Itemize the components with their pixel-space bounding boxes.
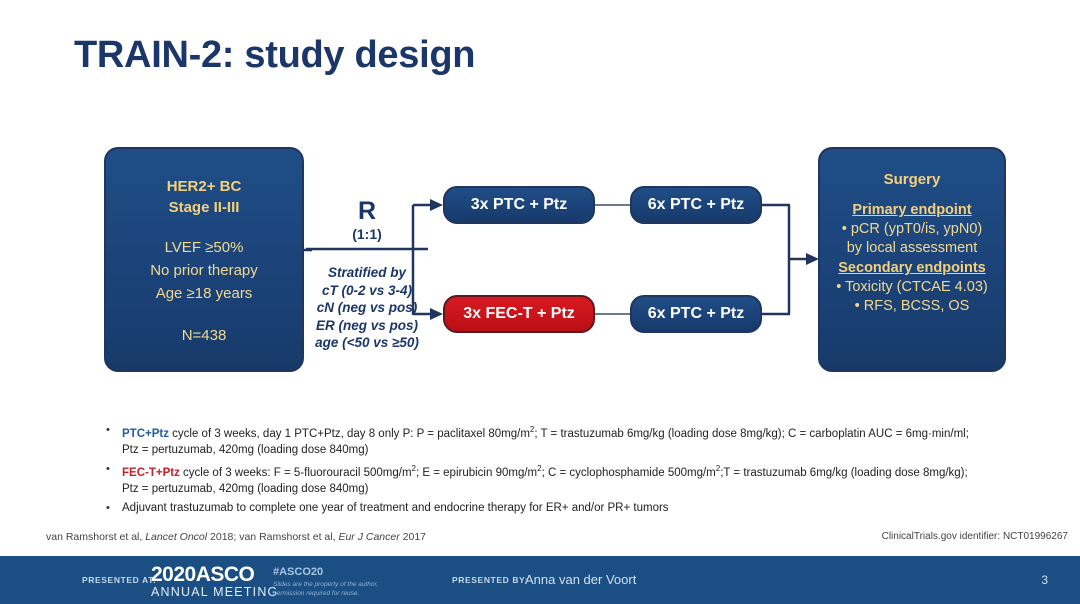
- citation-year-2: 2017: [400, 531, 426, 543]
- footnote-text-ptc: PTC+Ptz cycle of 3 weeks, day 1 PTC+Ptz,…: [122, 422, 980, 459]
- footnote-ptc-part-a: cycle of 3 weeks, day 1 PTC+Ptz, day 8 o…: [169, 428, 530, 440]
- footnote-text-fect: FEC-T+Ptz cycle of 3 weeks: F = 5-fluoro…: [122, 461, 980, 498]
- presented-at-label: PRESENTED AT:: [82, 575, 156, 585]
- population-criteria: LVEF ≥50% No prior therapy Age ≥18 years: [150, 236, 258, 305]
- surgery-heading: Surgery: [884, 171, 941, 188]
- stratification-factor-cn: cN (neg vs pos): [306, 299, 428, 317]
- footnotes-list: • PTC+Ptz cycle of 3 weeks, day 1 PTC+Pt…: [100, 422, 980, 518]
- asco-logo: 2020ASCO ANNUAL MEETING: [151, 564, 278, 600]
- footnote-text-adjuvant: Adjuvant trastuzumab to complete one yea…: [122, 500, 980, 517]
- surgery-endpoints-box: Surgery Primary endpoint • pCR (ypT0/is,…: [818, 147, 1006, 372]
- slide-number: 3: [1041, 573, 1048, 587]
- stratified-by-label: Stratified by: [306, 264, 428, 282]
- footnote-item-ptc: • PTC+Ptz cycle of 3 weeks, day 1 PTC+Pt…: [100, 422, 980, 459]
- citation-journal-1: Lancet Oncol: [145, 531, 207, 543]
- primary-endpoint-line1: • pCR (ypT0/is, ypN0): [842, 220, 982, 239]
- footnote-bullet: •: [100, 422, 122, 438]
- citation-year-1: 2018;: [207, 531, 239, 543]
- secondary-endpoints-heading: Secondary endpoints: [838, 258, 985, 278]
- conference-hashtag: #ASCO20: [273, 566, 378, 579]
- treatment-arm-b-continuation: 6x PTC + Ptz: [630, 295, 762, 333]
- asco-logo-title: 2020ASCO: [151, 564, 278, 585]
- stratification-factor-age: age (<50 vs ≥50): [306, 334, 428, 352]
- clinicaltrials-identifier: ClinicalTrials.gov identifier: NCT019962…: [882, 531, 1068, 542]
- footnote-fect-part-b: ; E = epirubicin 90mg/m: [416, 467, 537, 479]
- footnote-key-fect: FEC-T+Ptz: [122, 467, 180, 479]
- randomization-label: R (1:1): [312, 198, 422, 244]
- stratification-factor-er: ER (neg vs pos): [306, 317, 428, 335]
- primary-endpoint-line2: by local assessment: [847, 239, 978, 258]
- footnote-bullet: •: [100, 461, 122, 477]
- treatment-arm-b-induction: 3x FEC-T + Ptz: [443, 295, 595, 333]
- stratification-factor-ct: cT (0-2 vs 3-4): [306, 282, 428, 300]
- presenter-name: Anna van der Voort: [525, 572, 636, 587]
- disclaimer-line-2: permission required for reuse.: [273, 590, 378, 599]
- population-heading-line2: Stage II-III: [167, 197, 242, 218]
- citation-journal-2: Eur J Cancer: [338, 531, 399, 543]
- treatment-arm-a-induction: 3x PTC + Ptz: [443, 186, 595, 224]
- asco-logo-year: 2020: [151, 563, 196, 586]
- footnote-fect-part-a: cycle of 3 weeks: F = 5-fluorouracil 500…: [180, 467, 412, 479]
- page-title: TRAIN-2: study design: [74, 34, 475, 77]
- sample-size: N=438: [182, 327, 227, 344]
- population-heading-line1: HER2+ BC: [167, 176, 242, 197]
- footnote-item-fect: • FEC-T+Ptz cycle of 3 weeks: F = 5-fluo…: [100, 461, 980, 498]
- citation-author-1: van Ramshorst et al,: [46, 531, 145, 543]
- footnote-item-adjuvant: • Adjuvant trastuzumab to complete one y…: [100, 500, 980, 517]
- stratification-factors: Stratified by cT (0-2 vs 3-4) cN (neg vs…: [306, 264, 428, 352]
- secondary-endpoint-survival: • RFS, BCSS, OS: [855, 297, 970, 316]
- criteria-item-lvef: LVEF ≥50%: [150, 236, 258, 259]
- footnote-fect-part-c: ; C = cyclophosphamide 500mg/m: [542, 467, 716, 479]
- presented-by-label: PRESENTED BY:: [452, 575, 528, 585]
- footnote-key-ptc: PTC+Ptz: [122, 428, 169, 440]
- footnote-bullet: •: [100, 500, 122, 516]
- criteria-item-prior-therapy: No prior therapy: [150, 259, 258, 282]
- criteria-item-age: Age ≥18 years: [150, 282, 258, 305]
- slide-canvas: TRAIN-2: study design HER2+ BC Stage II-…: [0, 0, 1080, 604]
- treatment-arm-a-continuation: 6x PTC + Ptz: [630, 186, 762, 224]
- hashtag-block: #ASCO20 Slides are the property of the a…: [273, 566, 378, 598]
- citation-references: van Ramshorst et al, Lancet Oncol 2018; …: [46, 531, 426, 543]
- secondary-endpoint-toxicity: • Toxicity (CTCAE 4.03): [836, 278, 987, 297]
- reuse-disclaimer: Slides are the property of the author, p…: [273, 581, 378, 598]
- population-box: HER2+ BC Stage II-III LVEF ≥50% No prior…: [104, 147, 304, 372]
- citation-author-2: van Ramshorst et al,: [239, 531, 338, 543]
- randomization-letter: R: [312, 198, 422, 224]
- asco-logo-name: ASCO: [196, 563, 255, 586]
- disclaimer-line-1: Slides are the property of the author,: [273, 581, 378, 590]
- asco-footer-bar: PRESENTED AT: 2020ASCO ANNUAL MEETING #A…: [0, 556, 1080, 604]
- randomization-ratio: (1:1): [312, 224, 422, 244]
- asco-logo-subtitle: ANNUAL MEETING: [151, 585, 278, 600]
- population-heading: HER2+ BC Stage II-III: [167, 176, 242, 218]
- primary-endpoint-heading: Primary endpoint: [852, 200, 971, 220]
